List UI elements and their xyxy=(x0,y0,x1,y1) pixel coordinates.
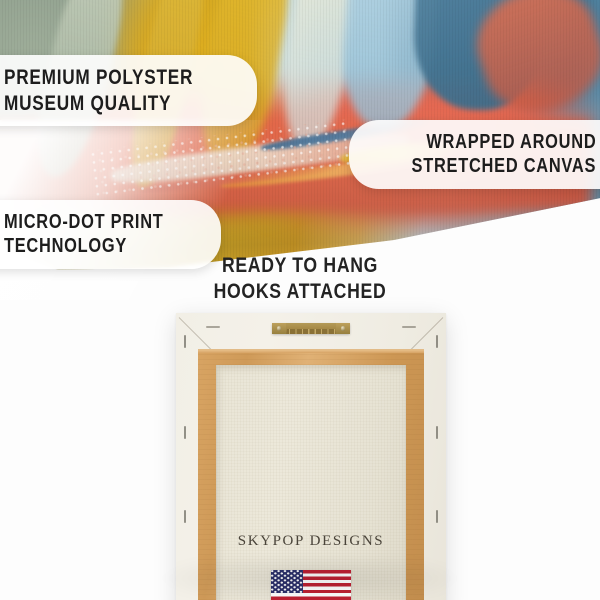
badge-wrapped-around-stretched-canvas: WRAPPED AROUND STRETCHED CANVAS xyxy=(349,120,600,189)
canvas-drop-shadow xyxy=(150,560,470,600)
staple-left-3 xyxy=(184,510,186,523)
hanger-screw-right xyxy=(341,326,346,331)
staple-right-3 xyxy=(436,510,438,523)
badge-premium-polyster: PREMIUM POLYSTER MUSEUM QUALITY xyxy=(0,55,257,126)
staple-left-2 xyxy=(184,426,186,439)
staple-right-1 xyxy=(436,335,438,348)
product-feature-graphic: PREMIUM POLYSTER MUSEUM QUALITY WRAPPED … xyxy=(0,0,600,600)
staple-top-left xyxy=(206,326,220,328)
ready-to-hang-caption: READY TO HANG HOOKS ATTACHED xyxy=(0,253,600,305)
badge-wrapped-line1: WRAPPED AROUND xyxy=(426,130,596,154)
hanger-screw-left xyxy=(277,326,282,331)
caption-line1: READY TO HANG xyxy=(48,253,552,279)
hanger-teeth xyxy=(287,329,335,334)
badge-microdot-line1: MICRO-DOT PRINT xyxy=(4,210,164,234)
staple-top-right xyxy=(402,326,416,328)
canvas-back-panel: SKYPOP DESIGNS xyxy=(176,313,446,600)
staple-right-2 xyxy=(436,426,438,439)
sawtooth-hanger-icon xyxy=(272,323,350,334)
brand-name: SKYPOP DESIGNS xyxy=(216,533,406,550)
badge-premium-line1: PREMIUM POLYSTER xyxy=(4,65,193,91)
caption-line2: HOOKS ATTACHED xyxy=(48,279,552,305)
badge-premium-line2: MUSEUM QUALITY xyxy=(4,91,171,117)
staple-left-1 xyxy=(184,335,186,348)
badge-wrapped-line2: STRETCHED CANVAS xyxy=(411,154,596,178)
